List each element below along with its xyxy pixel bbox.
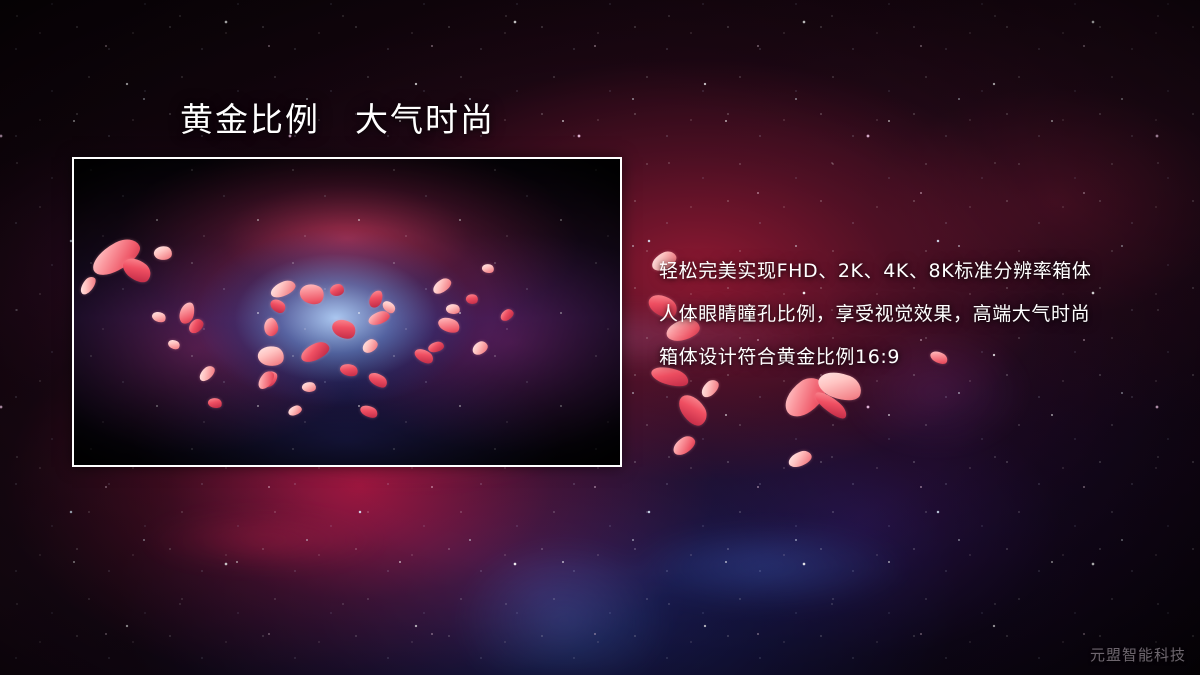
description-text-block: 轻松完美实现FHD、2K、4K、8K标准分辨率箱体 人体眼睛瞳孔比例，享受视觉效… <box>659 250 1179 379</box>
flower-petal <box>786 449 813 470</box>
watermark-label: 元盟智能科技 <box>1090 644 1186 665</box>
description-line-2: 人体眼睛瞳孔比例，享受视觉效果，高端大气时尚 <box>659 293 1179 336</box>
flower-petal <box>330 284 344 296</box>
description-line-1: 轻松完美实现FHD、2K、4K、8K标准分辨率箱体 <box>659 250 1179 293</box>
flower-petal <box>670 433 698 458</box>
product-image <box>74 159 620 465</box>
presentation-slide: 黄金比例 大气时尚 轻松完美实现FHD、2K、4K、8K标准分辨率箱体 人体眼睛… <box>0 0 1200 675</box>
page-title: 黄金比例 大气时尚 <box>180 102 495 139</box>
flower-petal <box>698 377 722 400</box>
description-line-3: 箱体设计符合黄金比例16:9 <box>659 336 1179 379</box>
product-image-frame <box>72 157 622 467</box>
